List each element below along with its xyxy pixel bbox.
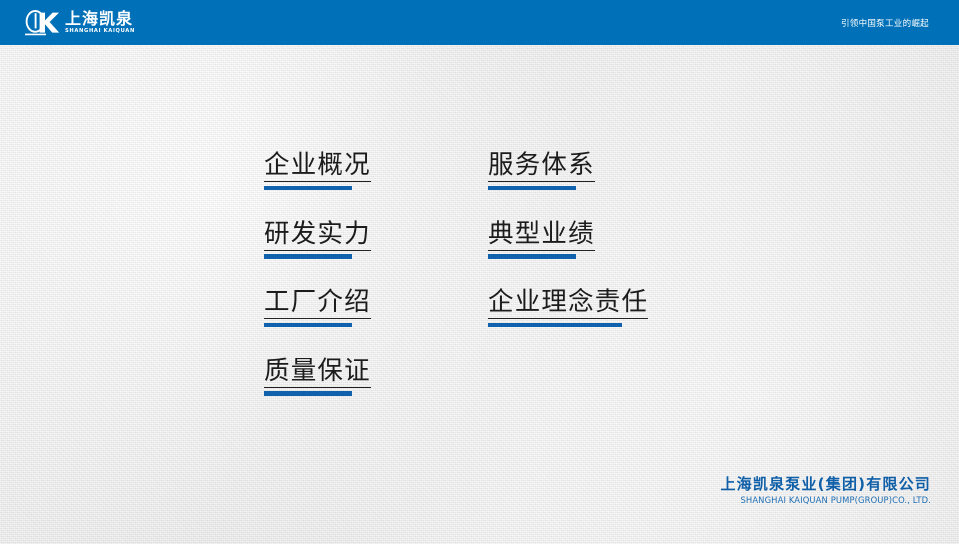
menu-cell: 质量保证 bbox=[264, 356, 488, 425]
brand-logo[interactable]: 上海凯泉 SHANGHAI KAIQUAN bbox=[22, 7, 135, 38]
menu-cell: 企业理念责任 bbox=[488, 287, 712, 356]
header-slogan: 引领中国泵工业的崛起 bbox=[841, 0, 929, 45]
menu-item-accent-bar bbox=[264, 186, 352, 191]
menu-cell: 研发实力 bbox=[264, 219, 488, 288]
menu-item-corporate-philosophy-responsibility[interactable]: 企业理念责任 bbox=[488, 287, 648, 327]
kaiquan-logo-mark-icon bbox=[22, 8, 60, 38]
menu-item-rnd-strength[interactable]: 研发实力 bbox=[264, 219, 371, 259]
menu-item-typical-projects[interactable]: 典型业绩 bbox=[488, 219, 595, 259]
menu-item-quality-assurance[interactable]: 质量保证 bbox=[264, 356, 371, 396]
menu-item-label: 企业理念责任 bbox=[488, 287, 648, 319]
menu-item-label: 工厂介绍 bbox=[264, 287, 371, 319]
footer-company-name-cn: 上海凯泉泵业(集团)有限公司 bbox=[720, 475, 931, 493]
menu-item-accent-bar bbox=[488, 254, 576, 259]
agenda-menu: 企业概况 服务体系 研发实力 典型业绩 bbox=[264, 150, 704, 424]
slide-header-bar: 上海凯泉 SHANGHAI KAIQUAN 引领中国泵工业的崛起 bbox=[0, 0, 959, 45]
menu-item-company-overview[interactable]: 企业概况 bbox=[264, 150, 371, 190]
menu-item-accent-bar bbox=[488, 186, 576, 191]
menu-row: 工厂介绍 企业理念责任 bbox=[264, 287, 704, 356]
menu-row: 研发实力 典型业绩 bbox=[264, 219, 704, 288]
menu-item-accent-bar bbox=[488, 323, 622, 328]
menu-item-accent-bar bbox=[264, 391, 352, 396]
menu-item-label: 质量保证 bbox=[264, 356, 371, 388]
menu-cell: 工厂介绍 bbox=[264, 287, 488, 356]
menu-row: 企业概况 服务体系 bbox=[264, 150, 704, 219]
menu-cell: 企业概况 bbox=[264, 150, 488, 219]
menu-cell: 典型业绩 bbox=[488, 219, 712, 288]
footer-company-name-en: SHANGHAI KAIQUAN PUMP(GROUP)CO., LTD. bbox=[720, 495, 931, 506]
menu-item-label: 研发实力 bbox=[264, 219, 371, 251]
footer-company-signature: 上海凯泉泵业(集团)有限公司 SHANGHAI KAIQUAN PUMP(GRO… bbox=[720, 475, 931, 506]
menu-item-label: 典型业绩 bbox=[488, 219, 595, 251]
menu-item-accent-bar bbox=[264, 254, 352, 259]
brand-logo-name-en: SHANGHAI KAIQUAN bbox=[65, 29, 135, 34]
menu-item-label: 服务体系 bbox=[488, 150, 595, 182]
menu-row: 质量保证 bbox=[264, 356, 704, 425]
menu-item-service-system[interactable]: 服务体系 bbox=[488, 150, 595, 190]
brand-logo-name-cn: 上海凯泉 bbox=[65, 11, 135, 27]
menu-item-label: 企业概况 bbox=[264, 150, 371, 182]
menu-item-factory-introduction[interactable]: 工厂介绍 bbox=[264, 287, 371, 327]
menu-item-accent-bar bbox=[264, 323, 352, 328]
menu-cell: 服务体系 bbox=[488, 150, 712, 219]
presentation-slide: 上海凯泉 SHANGHAI KAIQUAN 引领中国泵工业的崛起 企业概况 服务… bbox=[0, 0, 959, 544]
